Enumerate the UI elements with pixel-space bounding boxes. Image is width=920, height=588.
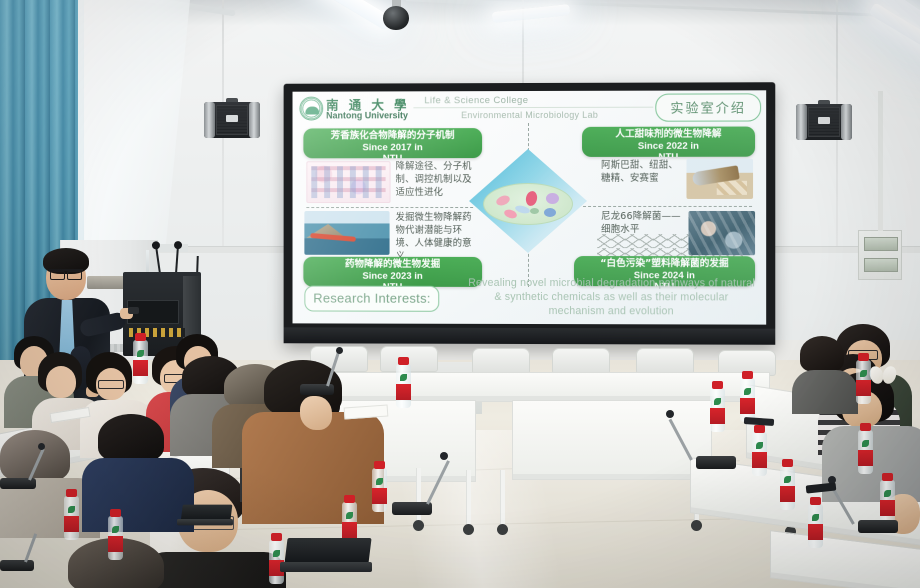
slide-title-text: 实验室介绍 — [670, 101, 746, 116]
water-bottle[interactable] — [858, 430, 873, 474]
water-bottle[interactable] — [780, 466, 795, 510]
dome-security-camera-icon — [383, 0, 411, 34]
audience-member — [60, 538, 190, 588]
water-bottle[interactable] — [133, 340, 148, 384]
quadrant-text-plastics: 尼龙66降解菌——细胞水平 — [601, 210, 681, 236]
wall-speaker-right — [796, 100, 852, 142]
jbl-logo-icon — [818, 117, 830, 124]
college-name: Life & Science College — [424, 95, 528, 106]
water-bottle[interactable] — [740, 378, 755, 422]
water-bottle[interactable] — [372, 468, 387, 512]
table-leg — [466, 470, 471, 528]
banner-line-1: 药物降解的微生物发掘 — [303, 259, 482, 271]
slide-tagline: Revealing novel microbial degradation pa… — [467, 276, 756, 319]
quadrant-text-drugs: 发掘微生物降解药物代谢潜能与环境、人体健康的意义 — [396, 211, 480, 263]
plastic-waste-photo — [688, 211, 755, 255]
table-leg — [500, 470, 505, 528]
university-seal-icon — [299, 97, 323, 121]
presentation-clicker[interactable] — [128, 307, 139, 314]
audience-member — [792, 336, 852, 408]
microbial-cell-diagram — [483, 183, 573, 225]
water-bottle[interactable] — [108, 516, 123, 560]
banner-line-1: “白色污染”塑料降解菌的发掘 — [574, 258, 755, 270]
table-caster — [497, 524, 508, 535]
water-bottle[interactable] — [752, 432, 767, 476]
banner-drug-degradation: 药物降解的微生物发掘 Since 2023 in NTU — [303, 257, 482, 287]
presentation-slide: 南 通 大 學 Nantong University Life & Scienc… — [293, 90, 767, 324]
table-caster — [413, 520, 424, 531]
display-bezel — [284, 327, 776, 344]
divider-horizontal-dashed-right — [583, 206, 752, 207]
banner-sweetener-degradation: 人工甜味剂的微生物降解 Since 2022 in NTU — [582, 127, 755, 157]
table-caster — [463, 524, 474, 535]
water-bottle[interactable] — [64, 496, 79, 540]
conference-microphone[interactable] — [0, 532, 54, 572]
wall-speaker-left — [204, 98, 260, 140]
water-bottle[interactable] — [856, 360, 871, 404]
research-interests-label: Research Interests: — [313, 291, 430, 306]
table-caster — [691, 520, 702, 531]
chair-back[interactable] — [552, 348, 610, 374]
banner-line-3: NTU — [582, 152, 755, 157]
hair-bow — [870, 366, 896, 384]
conduit-pipe — [878, 91, 883, 231]
banner-line-2: Since 2022 in — [582, 141, 755, 152]
water-environment-photo — [304, 211, 389, 255]
audience-member — [92, 414, 182, 524]
jbl-logo-icon — [226, 115, 238, 122]
quadrant-text-aromatic: 降解途径、分子机制、调控机制以及适应性进化 — [396, 160, 474, 199]
header-divider — [413, 107, 653, 109]
electrical-breaker-panel — [858, 230, 902, 280]
conference-microphone[interactable] — [300, 350, 360, 396]
banner-line-3: NTU — [303, 153, 482, 158]
quadrant-text-sweeteners: 阿斯巴甜、纽甜、糖精、安赛蜜 — [601, 159, 681, 185]
wall-mounted-display[interactable]: 南 通 大 學 Nantong University Life & Scienc… — [284, 82, 776, 345]
sugar-sweetener-photo — [686, 159, 753, 199]
banner-line-1: 芳香族化合物降解的分子机制 — [303, 130, 482, 142]
water-bottle[interactable] — [396, 364, 411, 408]
eyeglasses-icon — [49, 269, 83, 277]
banner-line-2: Since 2017 in — [303, 142, 482, 153]
conference-microphone[interactable] — [392, 456, 462, 516]
chair-back[interactable] — [636, 348, 694, 374]
laptop[interactable] — [177, 505, 233, 526]
banner-line-1: 人工甜味剂的微生物降解 — [582, 129, 755, 141]
conference-table — [300, 372, 770, 402]
lecture-room-photo: 南 通 大 學 Nantong University Life & Scienc… — [0, 0, 920, 588]
metabolic-pathway-diagram — [306, 161, 390, 203]
divider-horizontal-dashed-left — [306, 207, 473, 208]
chair-back[interactable] — [472, 348, 530, 374]
banner-line-2: Since 2023 in — [303, 271, 482, 282]
conference-microphone[interactable] — [0, 446, 60, 490]
lab-name: Environmental Microbiology Lab — [461, 110, 598, 120]
conference-microphone[interactable] — [660, 414, 740, 470]
university-name-en: Nantong University — [326, 110, 408, 120]
banner-aromatic-degradation: 芳香族化合物降解的分子机制 Since 2017 in NTU — [303, 128, 482, 158]
laptop[interactable] — [280, 538, 372, 572]
slide-title-badge: 实验室介绍 — [655, 93, 761, 121]
research-interests-badge: Research Interests: — [304, 286, 439, 312]
